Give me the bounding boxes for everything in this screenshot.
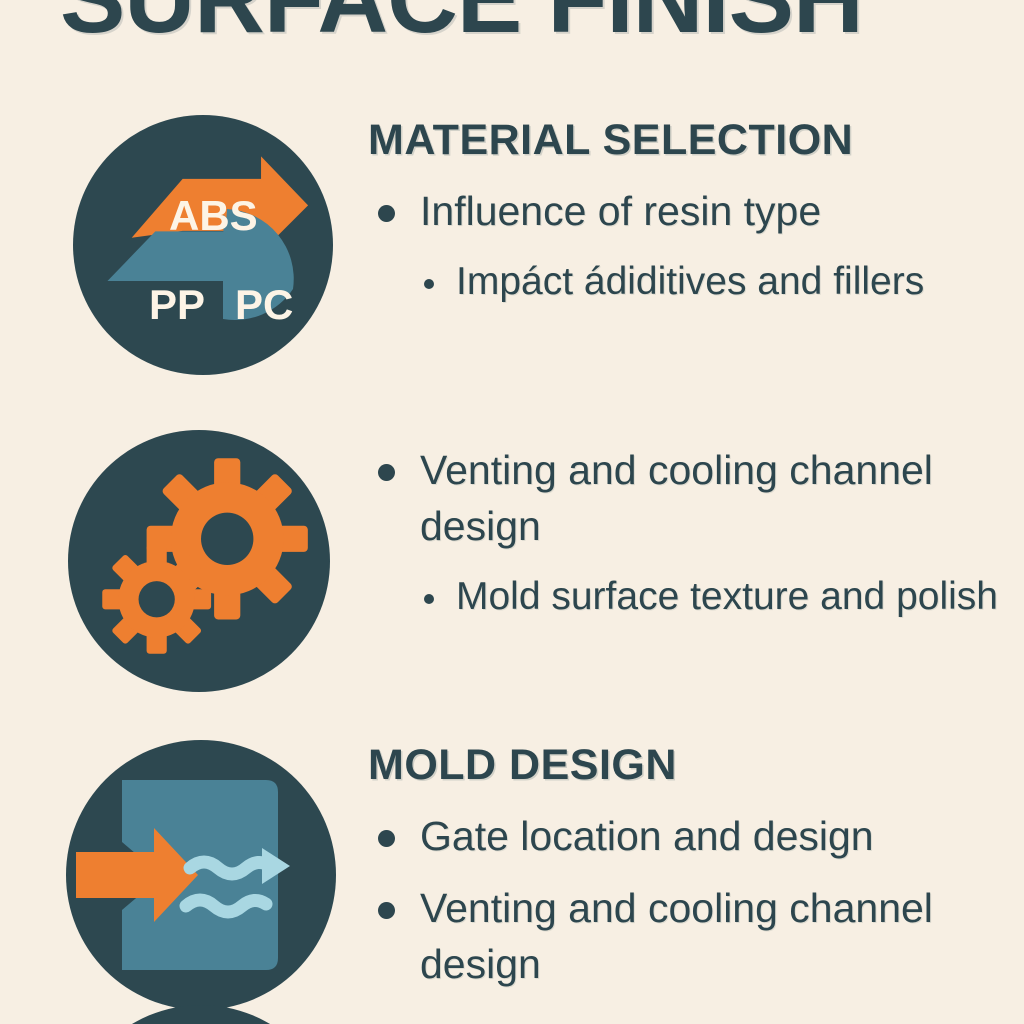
resin-recycle-arrows-icon: ABS PP PC [73, 115, 333, 375]
page-title: SURFACE FINISH [60, 0, 960, 48]
icon-label-pp: PP [149, 281, 205, 328]
list-item: Gate location and design [368, 808, 1014, 864]
list-item: Venting and cooling channel design [368, 442, 1014, 554]
icon-label-abs: ABS [169, 192, 258, 239]
list-item: Venting and cooling channel design [368, 880, 1014, 992]
section-2-bullet-list: Venting and cooling channel design Mold … [368, 442, 1014, 624]
icon-label-pc: PC [235, 281, 293, 328]
list-item: Impáct ádiditives and fillers [368, 255, 1014, 309]
section-heading-mold-design: MOLD DESIGN [368, 740, 1014, 790]
section-1-text: MATERIAL SELECTION Influence of resin ty… [368, 115, 1014, 325]
mold-cavity-flow-icon [66, 740, 336, 1010]
section-3-bullet-list: Gate location and design Venting and coo… [368, 808, 1014, 992]
next-section-icon-partial [66, 1005, 336, 1024]
list-item: Mold surface texture and polish [368, 570, 1014, 624]
section-2-text: Venting and cooling channel design Mold … [368, 430, 1014, 640]
section-heading-material-selection: MATERIAL SELECTION [368, 115, 1014, 165]
section-1-bullet-list: Influence of resin type Impáct ádiditive… [368, 183, 1014, 309]
infographic-poster: SURFACE FINISH ABS PP PC MATERIAL SELECT… [0, 0, 1024, 1024]
gears-icon [68, 430, 330, 692]
list-item: Influence of resin type [368, 183, 1014, 239]
section-3-text: MOLD DESIGN Gate location and design Ven… [368, 740, 1014, 1008]
